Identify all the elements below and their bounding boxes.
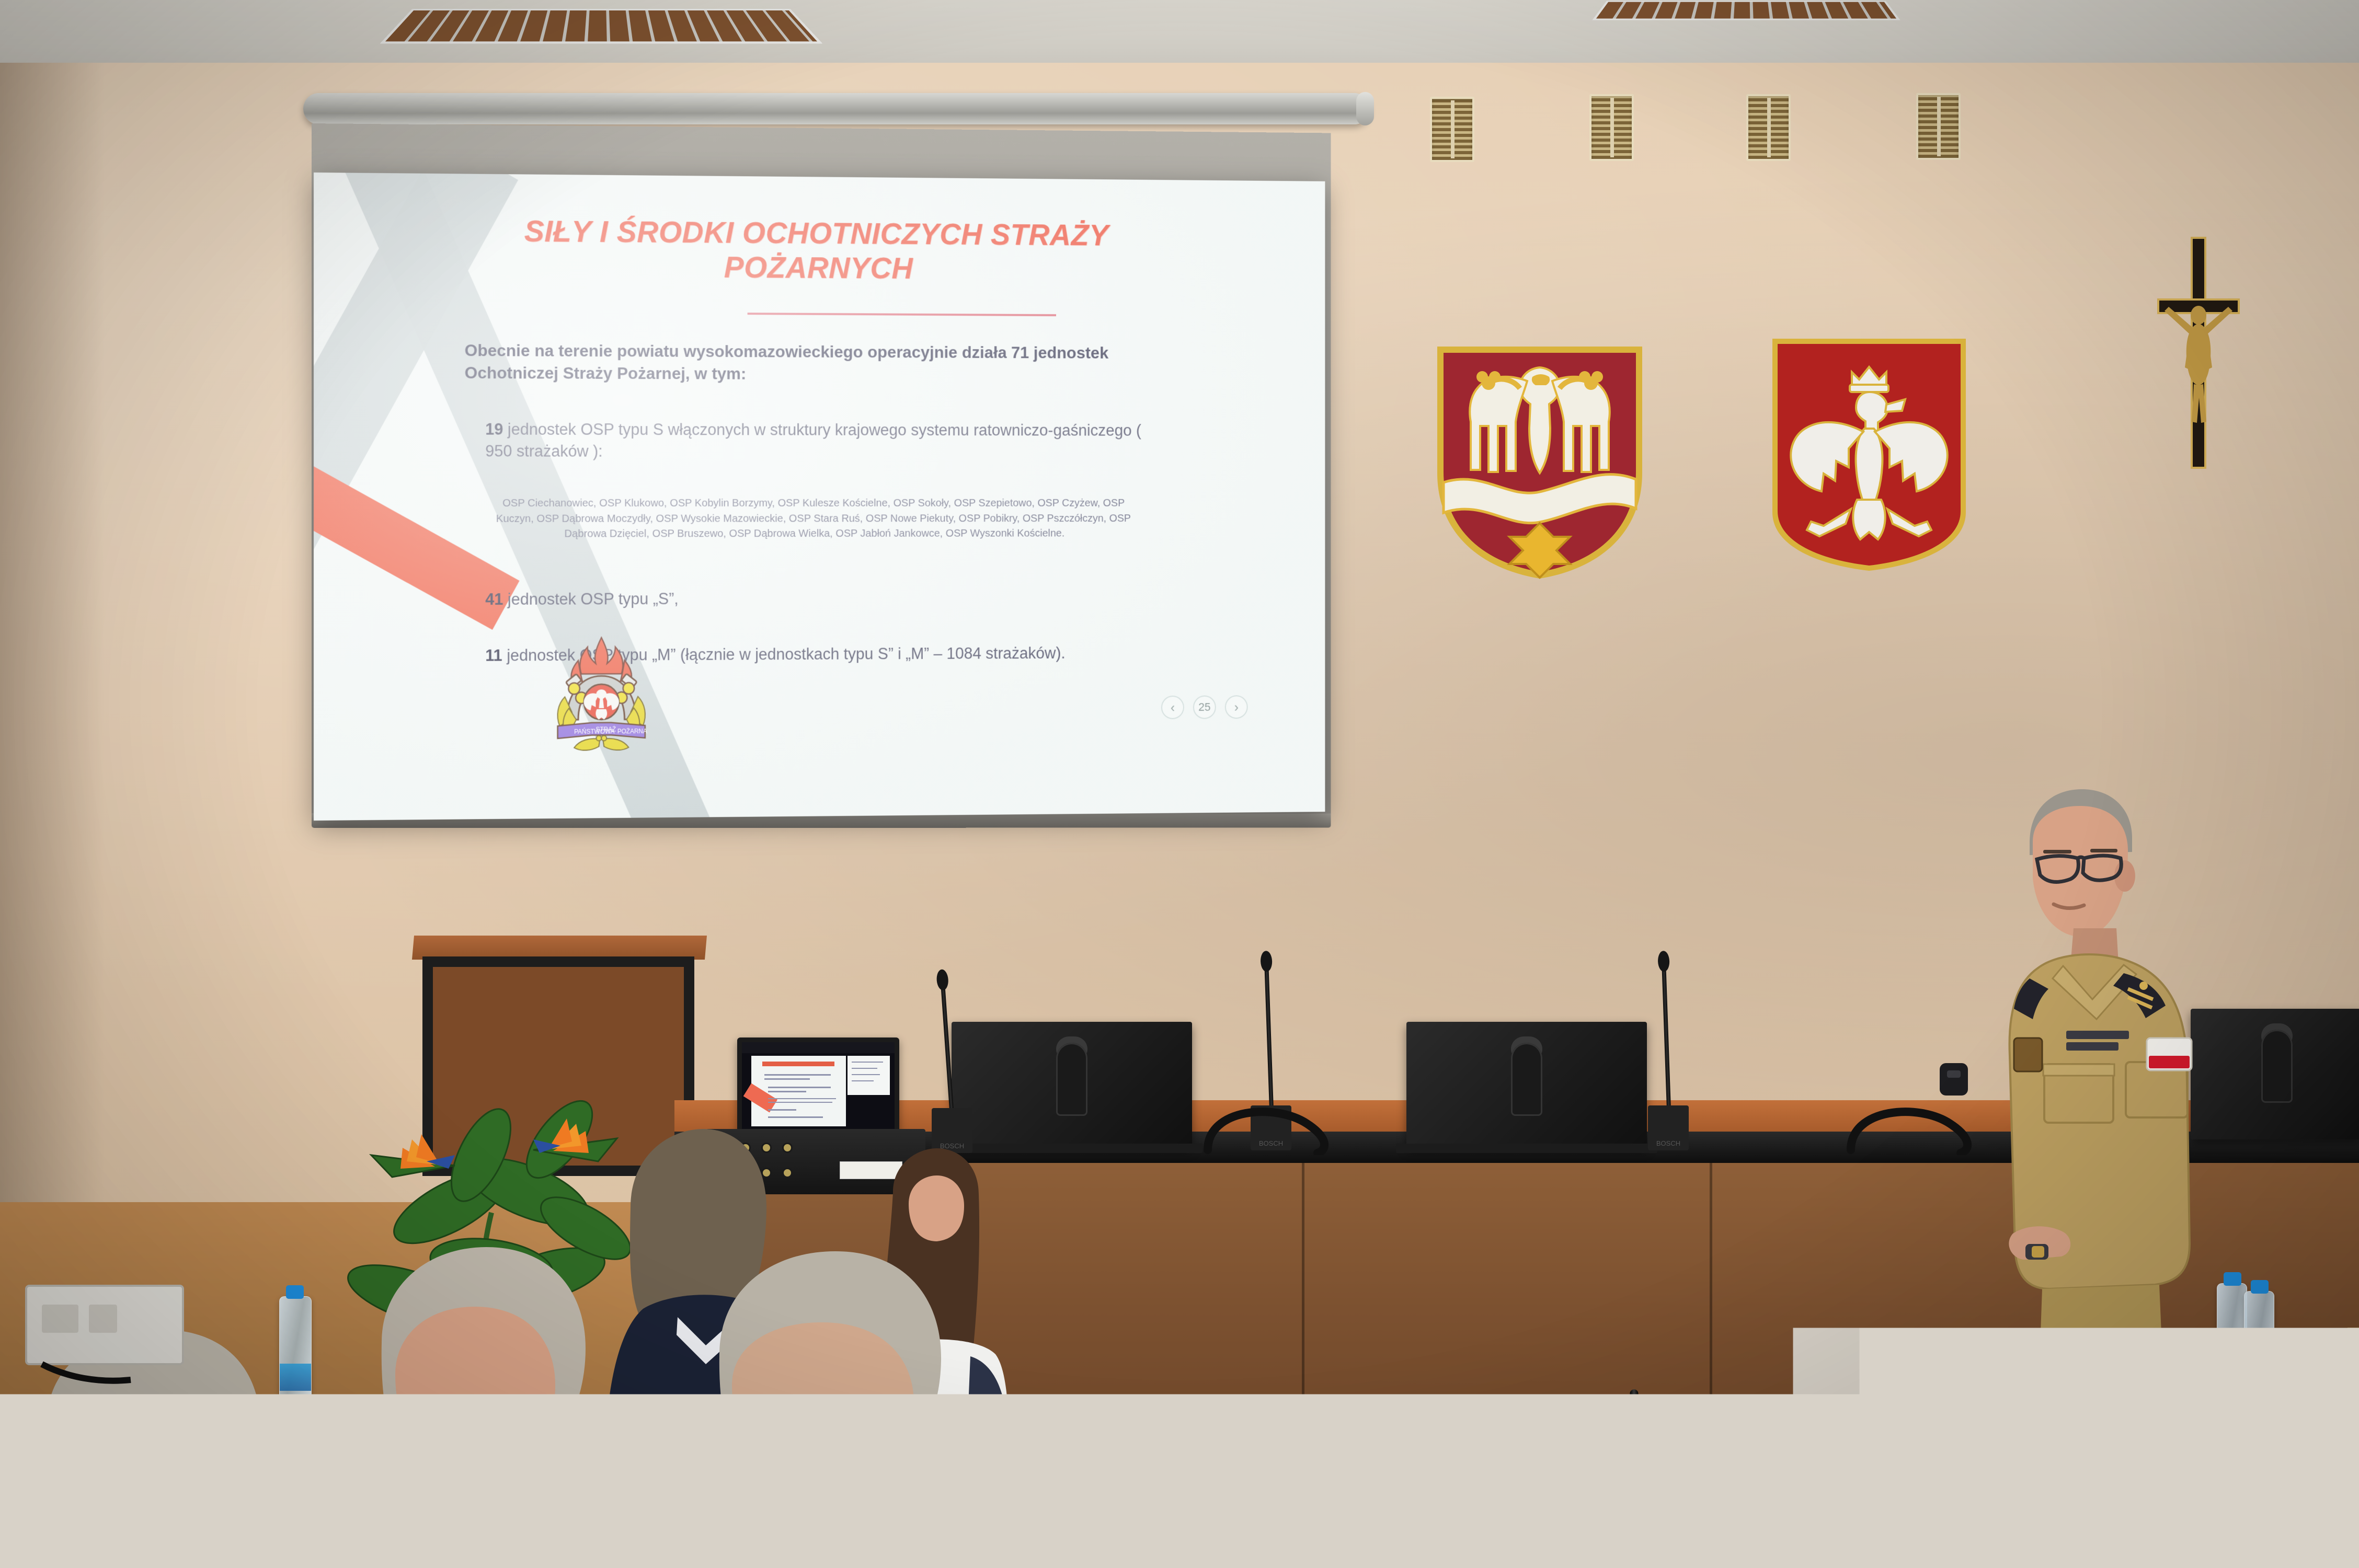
- microphone-base-1[interactable]: BOSCH: [932, 1108, 972, 1153]
- slide-bullet-2-number: 41: [485, 590, 503, 608]
- projector-screen-housing: [303, 93, 1370, 124]
- coat-of-arms-powiat-icon: [1430, 342, 1650, 583]
- wall-equipment-box: [21, 1275, 193, 1411]
- ceiling-vent-secondary-icon: [1592, 1, 1900, 20]
- slide-bullet-1: 19 jednostek OSP typu S włączonych w str…: [485, 419, 1146, 463]
- psp-banner-text-right: POŻARNA: [617, 728, 647, 735]
- wall-vent-icon-3: [1746, 94, 1791, 161]
- bird-of-paradise-flower-1: [371, 1134, 455, 1177]
- laptop-toolbar[interactable]: [742, 1042, 895, 1053]
- conference-monitor-2-base: [1396, 1144, 1657, 1153]
- slide-title-rule: [748, 313, 1056, 316]
- microphone-cable-1: [1197, 1087, 1354, 1155]
- laptop-current-slide: [751, 1056, 846, 1126]
- presenter-fire-officer: [1971, 774, 2222, 1406]
- slide-next-button[interactable]: ›: [1225, 695, 1248, 719]
- wall-shadow: [0, 63, 105, 1213]
- attendee-hand-right: [2264, 1328, 2359, 1401]
- slide-lead-paragraph: Obecnie na terenie powiatu wysokomazowie…: [465, 339, 1137, 386]
- conference-room-photo: SIŁY I ŚRODKI OCHOTNICZYCH STRAŻY POŻARN…: [0, 0, 2359, 1568]
- wall-vent-icon-4: [1916, 93, 1961, 160]
- coiled-cable: [2264, 1390, 2359, 1484]
- attendee-grey-jacket: [654, 1228, 1051, 1568]
- slide-unit-list: OSP Ciechanowiec, OSP Klukowo, OSP Kobyl…: [485, 495, 1141, 542]
- microphone-brand-label-3: BOSCH: [1656, 1139, 1680, 1147]
- microphone-base-3[interactable]: BOSCH: [1648, 1105, 1689, 1150]
- slide-prev-button[interactable]: ‹: [1161, 696, 1184, 719]
- wall-vent-icon-1: [1430, 97, 1474, 162]
- slide-bullet-1-number: 19: [485, 420, 503, 439]
- slide-bullet-2: 41 jednostek OSP typu „S”,: [485, 589, 1146, 609]
- crucifix-icon: [2149, 227, 2248, 478]
- chair-3[interactable]: [1861, 1380, 1924, 1568]
- slide-bullet-3-number: 11: [485, 647, 502, 665]
- conference-monitor-1[interactable]: [952, 1022, 1192, 1147]
- psp-emblem-icon: PAŃSTWOWA STRAŻ POŻARNA: [542, 631, 660, 751]
- presenter-head: [2033, 806, 2128, 937]
- water-bottle-front-left[interactable]: [279, 1296, 312, 1401]
- slide-navigation[interactable]: ‹ 25 ›: [1161, 695, 1248, 719]
- laptop-next-slide-thumbnail[interactable]: [848, 1056, 890, 1095]
- projection-screen: SIŁY I ŚRODKI OCHOTNICZYCH STRAŻY POŻARN…: [314, 172, 1325, 821]
- presenter-flag-patch-icon: [2147, 1038, 2192, 1070]
- slide-title: SIŁY I ŚRODKI OCHOTNICZYCH STRAŻY POŻARN…: [470, 213, 1161, 287]
- conference-monitor-2[interactable]: [1406, 1022, 1647, 1147]
- slide-bullet-2-text: jednostek OSP typu „S”,: [503, 590, 678, 608]
- wall-vent-icon-2: [1589, 94, 1634, 161]
- slide-bullet-1-text: jednostek OSP typu S włączonych w strukt…: [485, 420, 1141, 460]
- presenter-remote-clicker[interactable]: [1929, 1056, 1992, 1103]
- chair-2[interactable]: [1647, 1416, 1783, 1568]
- ceiling-vent-icon: [380, 9, 822, 43]
- water-bottle-1[interactable]: [2217, 1283, 2247, 1372]
- slide: SIŁY I ŚRODKI OCHOTNICZYCH STRAŻY POŻARN…: [314, 172, 1325, 821]
- coat-of-arms-poland-icon: [1767, 335, 1971, 575]
- psp-banner-text-mid: STRAŻ: [596, 725, 616, 733]
- slide-number-badge[interactable]: 25: [1193, 696, 1216, 719]
